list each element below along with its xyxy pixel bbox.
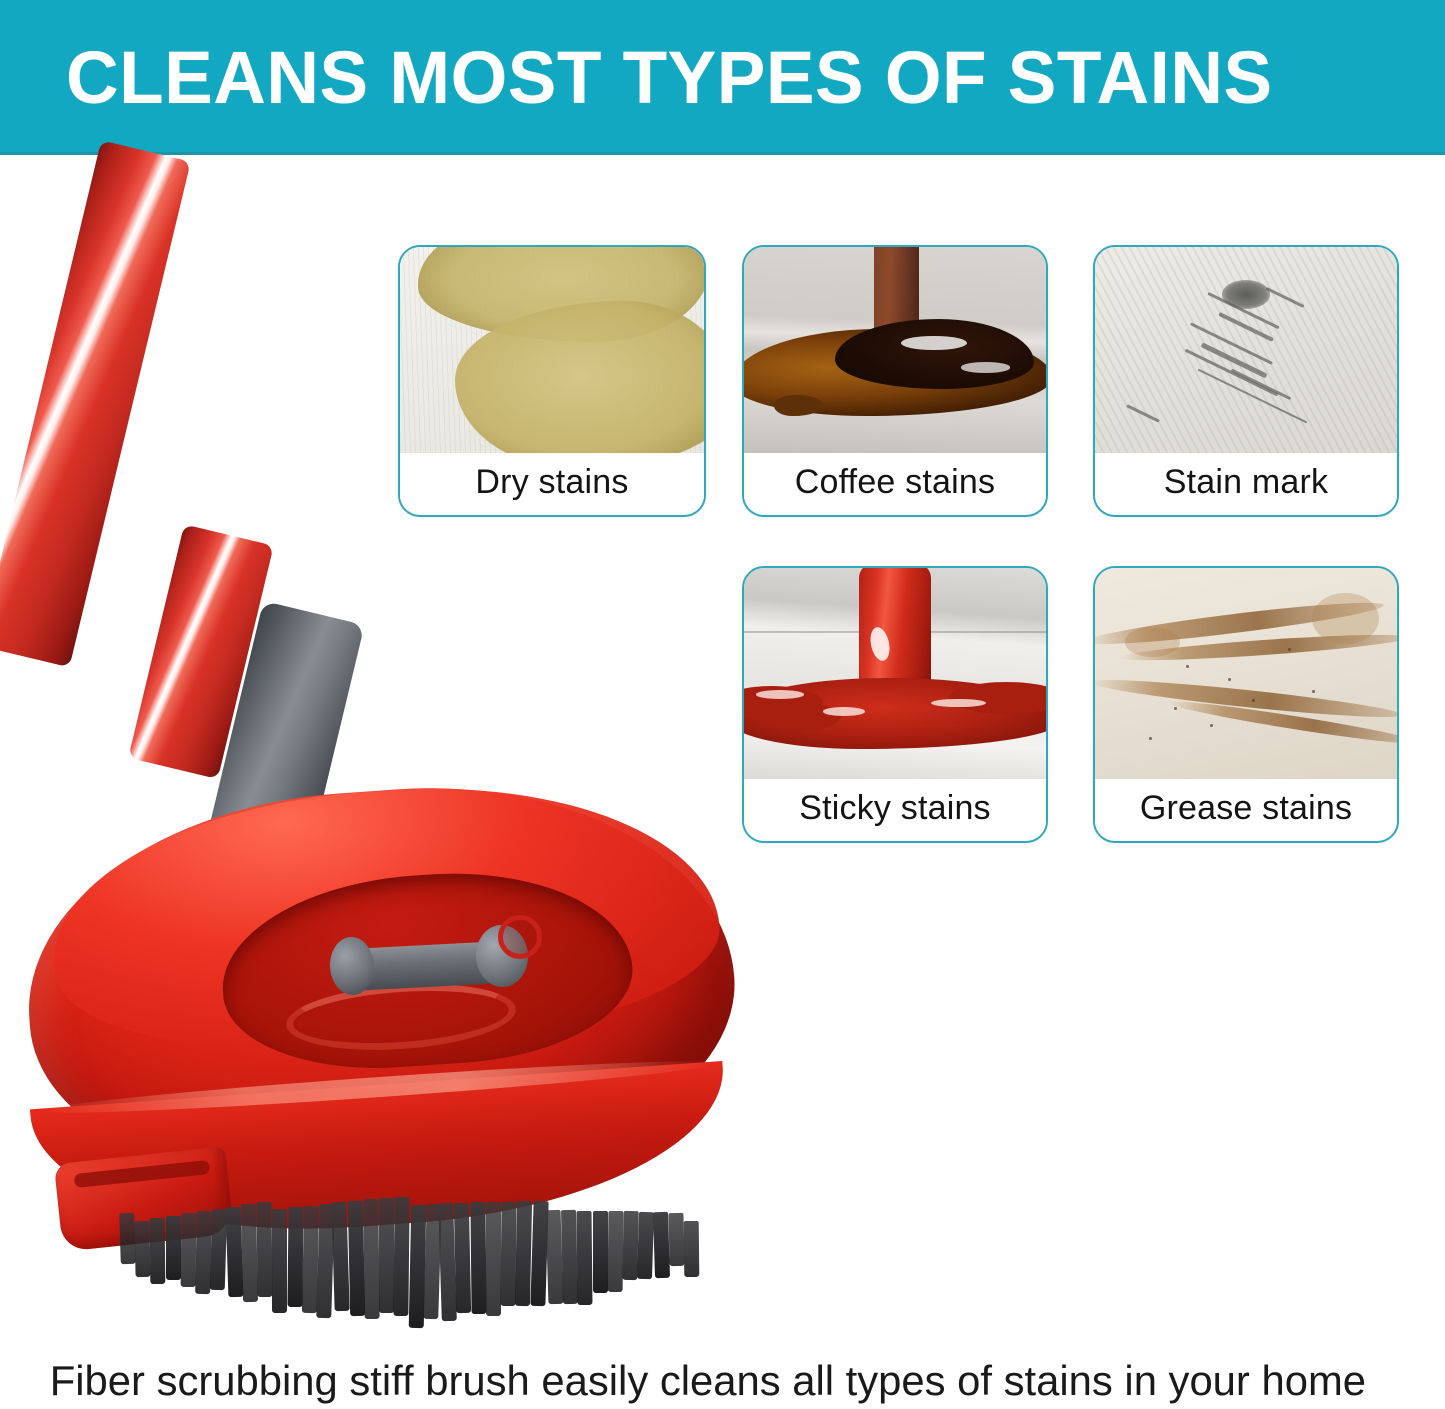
brush-bristle <box>287 1207 303 1307</box>
brush-bristle <box>241 1204 258 1302</box>
brush-bristle <box>561 1210 578 1304</box>
stain-card-dry-label: Dry stains <box>400 453 704 511</box>
banner-title: CLEANS MOST TYPES OF STAINS <box>66 35 1273 120</box>
footer-caption: Fiber scrubbing stiff brush easily clean… <box>0 1352 1438 1409</box>
stain-card-mark: Stain mark <box>1093 245 1399 517</box>
stain-card-coffee-label: Coffee stains <box>744 453 1046 511</box>
brush-bristle <box>593 1211 608 1293</box>
brush-bristle <box>668 1212 684 1266</box>
stain-card-dry-image <box>400 247 704 453</box>
stain-card-coffee: Coffee stains <box>742 245 1048 517</box>
brush-bristle <box>652 1212 669 1278</box>
brush-bristle <box>150 1218 166 1284</box>
brush-bristle <box>607 1211 623 1292</box>
stain-card-dry: Dry stains <box>398 245 706 517</box>
brush-bristle <box>684 1221 700 1277</box>
brush-bristle <box>272 1209 287 1312</box>
brush-swivel-collar <box>498 915 542 959</box>
brush-bristles <box>120 1195 700 1345</box>
stain-card-sticky-image <box>744 568 1046 779</box>
header-banner: CLEANS MOST TYPES OF STAINS <box>0 0 1445 155</box>
brush-bristle <box>454 1203 471 1313</box>
brush-bristle <box>166 1216 181 1280</box>
brush-pole-upper-segment <box>0 140 191 667</box>
brush-bristle <box>501 1202 517 1306</box>
brush-bristle <box>379 1198 394 1312</box>
stain-card-coffee-image <box>744 247 1046 453</box>
brush-bristle <box>257 1202 273 1298</box>
brush-bristle <box>181 1213 197 1287</box>
brush-bristle <box>347 1201 364 1316</box>
stain-card-grease: Grease stains <box>1093 566 1399 843</box>
brush-bristle <box>363 1199 379 1320</box>
stain-card-sticky: Sticky stains <box>742 566 1048 843</box>
brush-bristle <box>135 1220 151 1277</box>
stain-card-mark-label: Stain mark <box>1095 453 1397 511</box>
stain-card-grease-label: Grease stains <box>1095 779 1397 837</box>
stain-card-mark-image <box>1095 247 1397 453</box>
brush-bristle <box>119 1213 136 1264</box>
brush-bristle <box>470 1202 486 1314</box>
brush-bristle <box>637 1212 654 1280</box>
stain-card-grease-image <box>1095 568 1397 779</box>
stain-card-sticky-label: Sticky stains <box>744 779 1046 837</box>
brush-bristle <box>486 1202 501 1316</box>
brush-bristle <box>394 1197 410 1316</box>
brush-bristle <box>577 1211 593 1305</box>
